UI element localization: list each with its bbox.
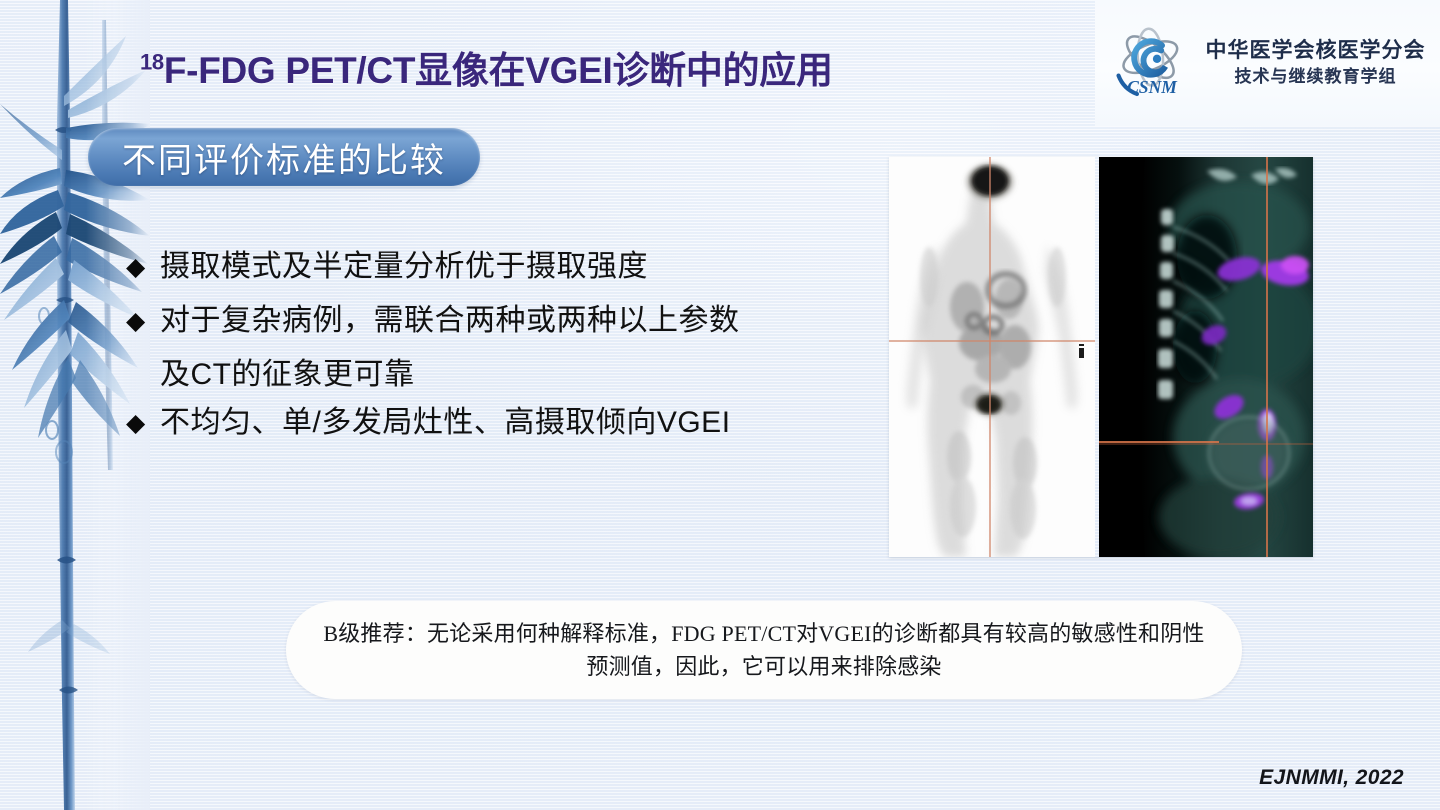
section-subtitle-label: 不同评价标准的比较	[122, 133, 446, 182]
title-main-text: F-FDG PET/CT显像在VGEI诊断中的应用	[164, 50, 833, 91]
bullet-list: ◆ 摄取模式及半定量分析优于摄取强度 ◆ 对于复杂病例，需联合两种或两种以上参数…	[126, 243, 906, 453]
source-citation: EJNMMI, 2022	[1259, 766, 1404, 790]
title-superscript: 18	[140, 50, 164, 75]
society-logo-block: CSNM 中华医学会核医学分会 技术与继续教育学组	[1095, 0, 1440, 126]
pet-mip-image	[889, 157, 1095, 557]
list-item-text: 不均匀、单/多发局灶性、高摄取倾向VGEI	[160, 399, 731, 447]
list-item: ◆ 不均匀、单/多发局灶性、高摄取倾向VGEI	[126, 399, 906, 447]
figure-panel	[889, 157, 1313, 557]
slide-canvas: CSNM 中华医学会核医学分会 技术与继续教育学组 18F-FDG PET/CT…	[0, 0, 1440, 810]
page-title: 18F-FDG PET/CT显像在VGEI诊断中的应用	[140, 40, 1040, 94]
csnm-atom-logo-icon: CSNM	[1110, 27, 1194, 99]
diamond-bullet-icon: ◆	[126, 297, 160, 345]
logo-line-2: 技术与继续教育学组	[1235, 67, 1397, 87]
diamond-bullet-icon: ◆	[126, 243, 160, 291]
list-item-continuation: 及CT的征象更可靠	[160, 351, 906, 399]
recommendation-caption-text: B级推荐：无论采用何种解释标准，FDG PET/CT对VGEI的诊断都具有较高的…	[320, 617, 1208, 683]
diamond-bullet-icon: ◆	[126, 399, 160, 447]
list-item-text: 摄取模式及半定量分析优于摄取强度	[160, 243, 648, 291]
list-item: ◆ 对于复杂病例，需联合两种或两种以上参数	[126, 297, 906, 345]
list-item: ◆ 摄取模式及半定量分析优于摄取强度	[126, 243, 906, 291]
pet-ct-fusion-image	[1099, 157, 1313, 557]
section-subtitle-pill: 不同评价标准的比较	[88, 128, 480, 186]
recommendation-caption-box: B级推荐：无论采用何种解释标准，FDG PET/CT对VGEI的诊断都具有较高的…	[286, 601, 1242, 699]
logo-line-1: 中华医学会核医学分会	[1206, 39, 1426, 64]
society-logo-text: 中华医学会核医学分会 技术与继续教育学组	[1206, 39, 1426, 88]
list-item-text: 对于复杂病例，需联合两种或两种以上参数	[160, 297, 740, 345]
